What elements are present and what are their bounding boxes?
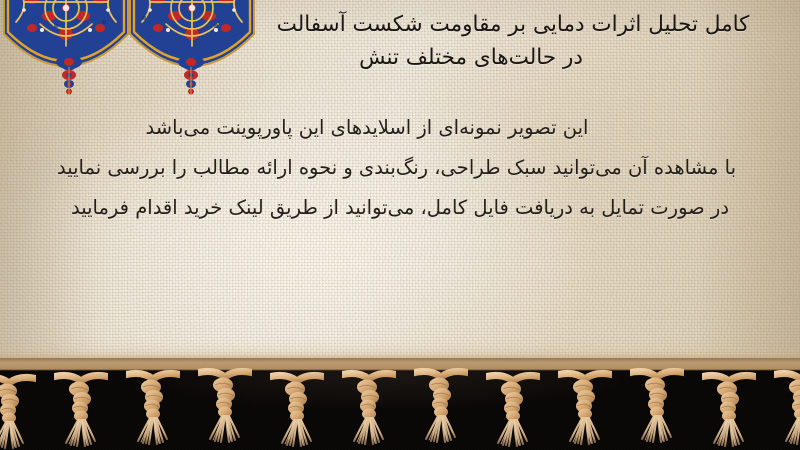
body-line-1: این تصویر نمونه‌ای از اسلایدهای این پاور… bbox=[60, 108, 740, 148]
tassel bbox=[198, 365, 252, 443]
tassel bbox=[414, 365, 468, 443]
ornament-pendant-left-icon bbox=[52, 55, 86, 97]
body-line-2: با مشاهده آن می‌توانید سبک طراحی، رنگ‌بن… bbox=[60, 148, 740, 188]
tassel bbox=[342, 367, 396, 445]
tassel bbox=[558, 367, 612, 445]
slide-canvas: کامل تحلیل اثرات دمایی بر مقاومت شکست آس… bbox=[0, 0, 800, 450]
tassel bbox=[126, 367, 180, 445]
tassel bbox=[702, 369, 756, 447]
ornament-pendant-right-icon bbox=[174, 55, 208, 97]
tassel bbox=[774, 367, 800, 445]
slide-title: کامل تحلیل اثرات دمایی بر مقاومت شکست آس… bbox=[240, 8, 786, 74]
fringe-tassels bbox=[0, 358, 800, 450]
tassel bbox=[270, 369, 324, 447]
title-line-1: کامل تحلیل اثرات دمایی بر مقاومت شکست آس… bbox=[240, 8, 786, 41]
slide-body: این تصویر نمونه‌ای از اسلایدهای این پاور… bbox=[60, 108, 740, 228]
tassel bbox=[630, 365, 684, 443]
body-line-3: در صورت تمایل به دریافت فایل کامل، می‌تو… bbox=[60, 188, 740, 228]
tassel bbox=[54, 369, 108, 447]
tassel bbox=[486, 369, 540, 447]
title-line-2: در حالت‌های مختلف تنش bbox=[240, 41, 786, 74]
tassel bbox=[0, 371, 36, 449]
